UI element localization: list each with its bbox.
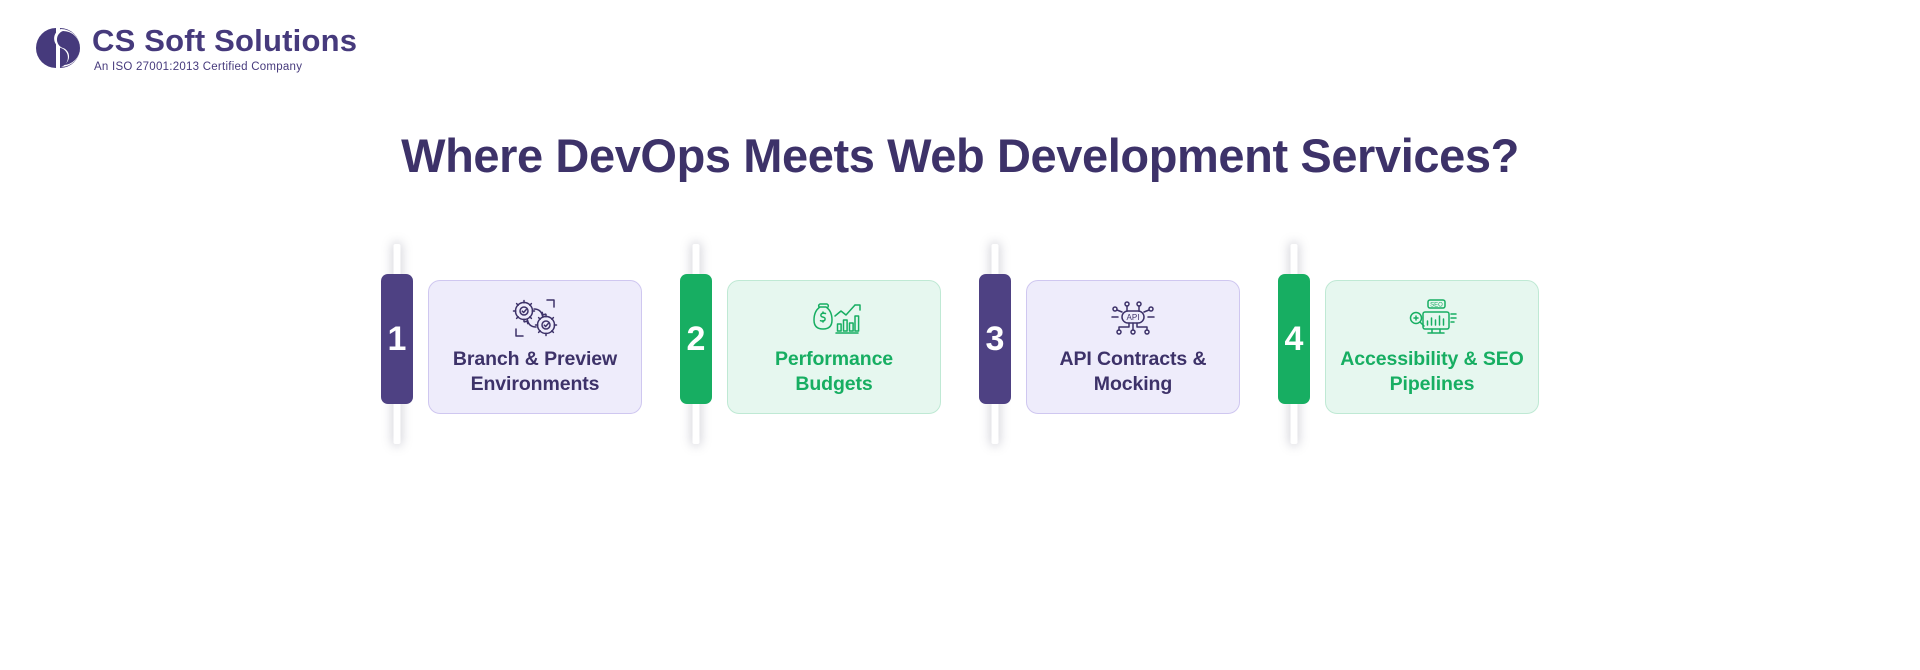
step-item-2[interactable]: 2 (680, 240, 941, 444)
api-network-nodes-icon: API (1105, 295, 1161, 341)
step-card-label-2: Performance Budgets (740, 347, 928, 397)
infographic-page: CS Soft Solutions An ISO 27001:2013 Cert… (0, 0, 1920, 670)
svg-text:SEO: SEO (1430, 302, 1443, 308)
step-card-2[interactable]: Performance Budgets (727, 280, 941, 414)
step-item-3[interactable]: 3 API (979, 240, 1240, 444)
step-card-label-1: Branch & Preview Environments (441, 347, 629, 397)
step-card-label-3: API Contracts & Mocking (1039, 347, 1227, 397)
step-card-1[interactable]: Branch & Preview Environments (428, 280, 642, 414)
step-badge-wrap-4: 4 (1278, 244, 1310, 444)
steps-row: 1 (0, 240, 1920, 444)
step-card-label-4: Accessibility & SEO Pipelines (1338, 347, 1526, 397)
cs-circle-logo-icon (30, 22, 82, 74)
brand-name: CS Soft Solutions (92, 25, 357, 58)
step-number-badge-1: 1 (381, 274, 413, 404)
step-card-4[interactable]: SEO Accessibility & SEO Pipelines (1325, 280, 1539, 414)
step-item-4[interactable]: 4 SEO Accessibility & (1278, 240, 1539, 444)
step-number-badge-3: 3 (979, 274, 1011, 404)
step-badge-wrap-1: 1 (381, 244, 413, 444)
brand-tagline: An ISO 27001:2013 Certified Company (94, 61, 357, 73)
step-item-1[interactable]: 1 (381, 240, 642, 444)
step-badge-wrap-2: 2 (680, 244, 712, 444)
page-title: Where DevOps Meets Web Development Servi… (0, 128, 1920, 183)
step-number-badge-2: 2 (680, 274, 712, 404)
brand-logo[interactable]: CS Soft Solutions An ISO 27001:2013 Cert… (30, 22, 357, 74)
svg-text:API: API (1127, 313, 1140, 322)
step-card-3[interactable]: API (1026, 280, 1240, 414)
step-number-badge-4: 4 (1278, 274, 1310, 404)
money-bag-growth-chart-icon (806, 295, 862, 341)
seo-monitor-chart-icon: SEO (1404, 295, 1460, 341)
step-badge-wrap-3: 3 (979, 244, 1011, 444)
gears-sync-check-icon (507, 295, 563, 341)
